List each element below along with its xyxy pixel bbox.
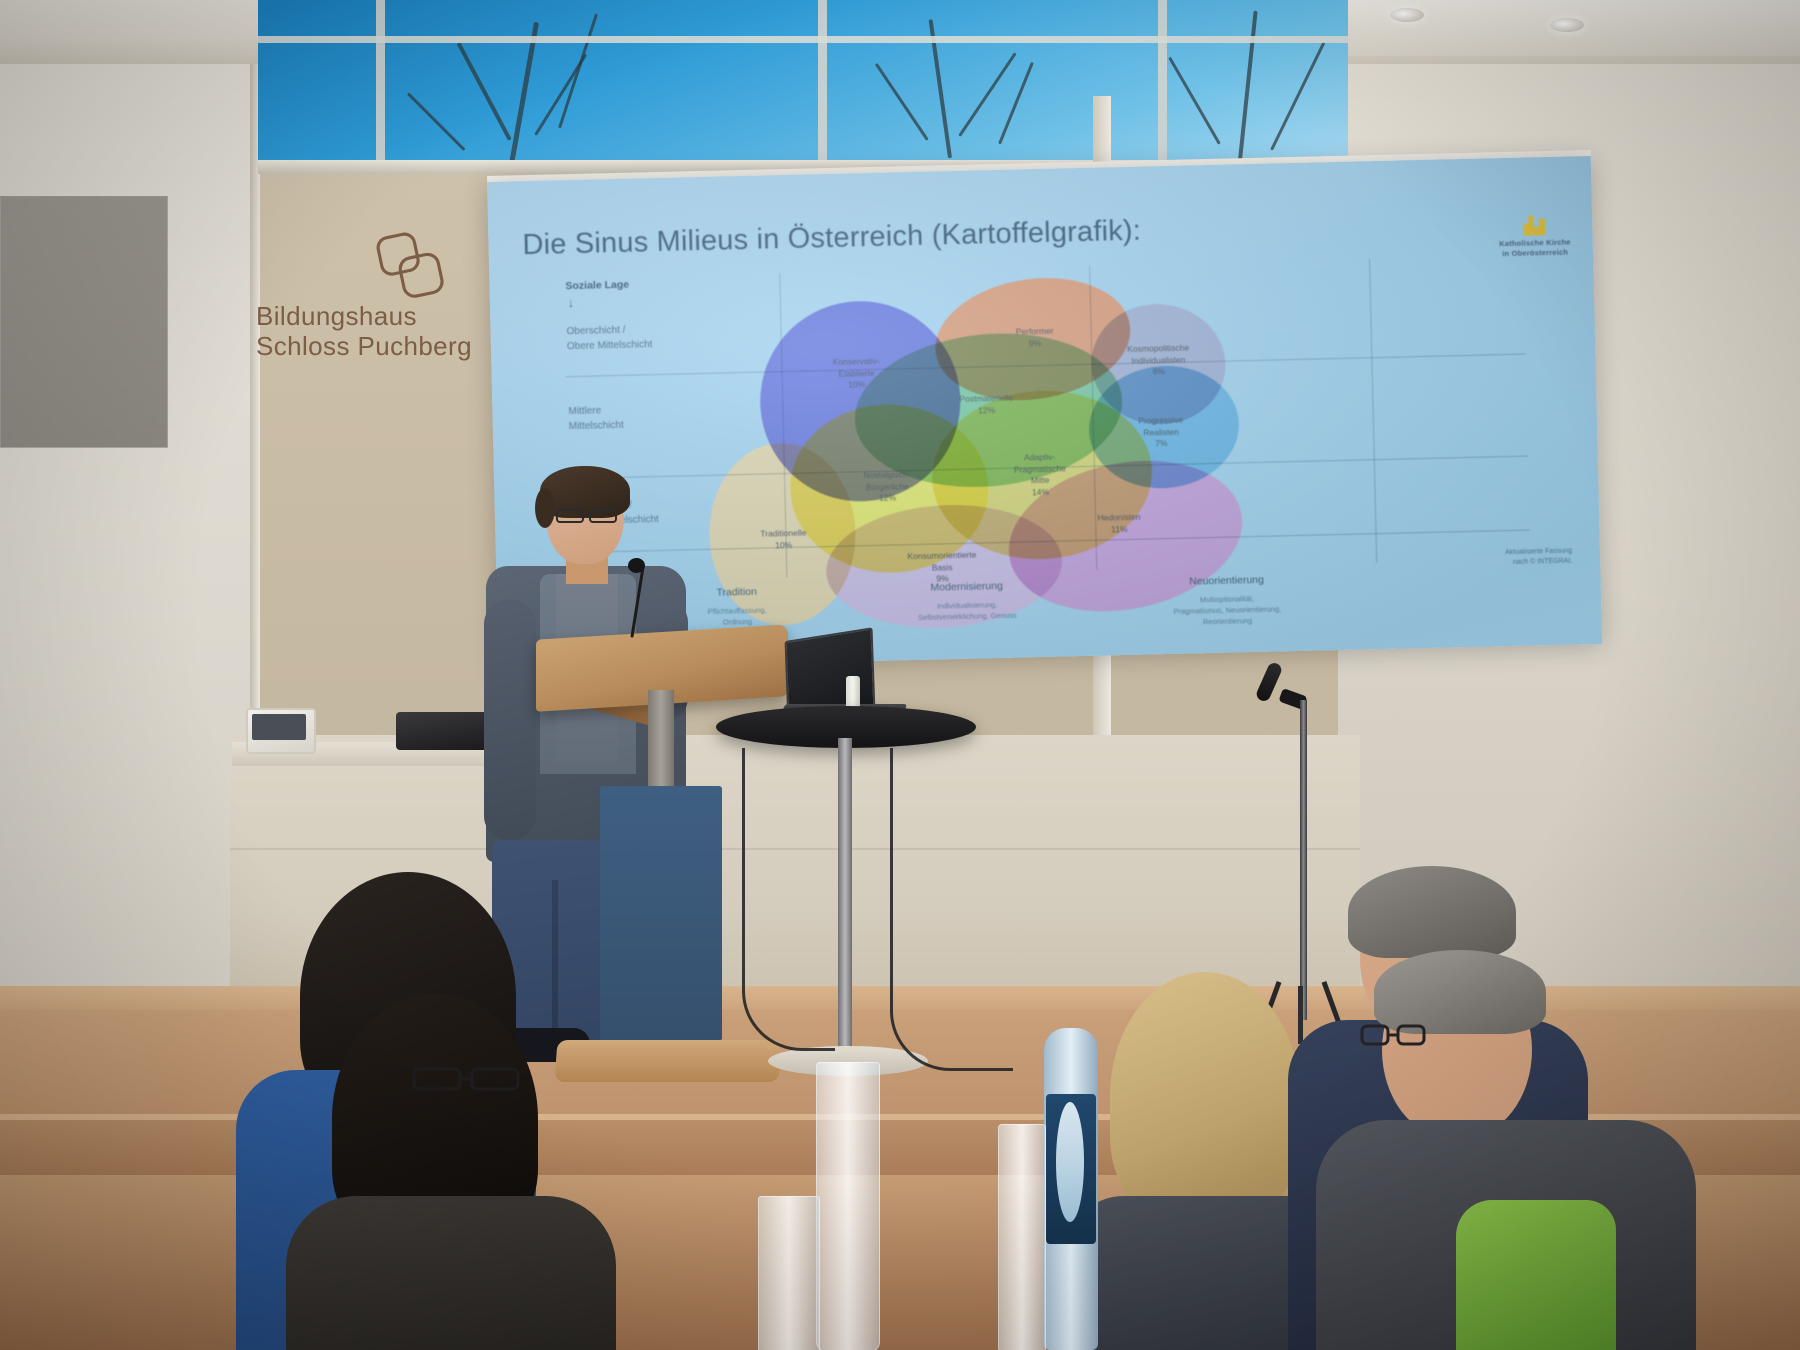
- microphone-stand-pole: [1300, 700, 1307, 1020]
- side-table-stem: [838, 738, 852, 1060]
- control-tablet-screen[interactable]: [252, 714, 306, 740]
- church-logo-mark-icon: [1523, 215, 1545, 236]
- speaker-glasses-icon: [556, 508, 618, 524]
- speaker-hair-side: [535, 488, 555, 528]
- foreground-drinking-glass: [758, 1196, 820, 1350]
- audience-member-5-scarf: [1456, 1200, 1616, 1350]
- slide-credit: Aktualisierte Fassung nach © INTEGRAL: [1505, 547, 1572, 568]
- x-axis-sub-modernisierung: Individualisierung, Selbstverwirklichung…: [847, 598, 1087, 625]
- window-transom: [258, 36, 1348, 43]
- slide-title: Die Sinus Milieus in Österreich (Kartoff…: [522, 215, 1141, 263]
- window-mullion: [376, 0, 385, 168]
- audience-member-5-glasses-icon: [1360, 1024, 1426, 1048]
- y-label-middle: Mittlere Mittelschicht: [568, 404, 624, 434]
- y-axis-title: Soziale Lage: [565, 279, 629, 292]
- ceiling-downlight: [1390, 8, 1424, 22]
- power-cable: [890, 748, 1013, 1071]
- acoustic-panel-left: [0, 196, 168, 448]
- lectern-front-panel: [600, 786, 722, 1041]
- power-cable: [742, 748, 835, 1051]
- foreground-drinking-glass: [816, 1062, 880, 1350]
- y-label-upper: Oberschicht / Obere Mittelschicht: [566, 323, 652, 354]
- church-logo-line2: in Oberösterreich: [1499, 248, 1571, 260]
- venue-sign-line1: Bildungshaus: [256, 300, 417, 333]
- microphone-stand-leg: [1298, 986, 1303, 1044]
- projector-device: [396, 712, 488, 750]
- church-logo: Katholische Kirche in Oberösterreich: [1499, 214, 1572, 259]
- venue-logo-icon: [374, 232, 448, 302]
- audience-member-4-hair: [1110, 972, 1300, 1222]
- audience-member-2-body: [286, 1196, 616, 1350]
- window-mullion: [1158, 0, 1167, 168]
- wall-panel-left: [0, 0, 258, 1120]
- venue-sign-line2: Schloss Puchberg: [256, 330, 472, 363]
- audience-member-2-glasses-icon: [412, 1066, 522, 1092]
- audience-member-5-hair: [1374, 950, 1546, 1034]
- lectern-microphone-head-icon: [628, 558, 645, 573]
- presentation-room-photo: Bildungshaus Schloss Puchberg Die Sinus …: [0, 0, 1800, 1350]
- foreground-drinking-glass: [998, 1124, 1046, 1350]
- speaker-left-arm: [484, 600, 536, 840]
- window-mullion: [818, 0, 827, 168]
- foreground-bottle-leaf-graphic: [1056, 1102, 1084, 1222]
- vline-neuorientierung: [1369, 259, 1377, 563]
- x-axis-sub-neuorientierung: Multioptionalität, Pragmatismus, Neuorie…: [1107, 592, 1348, 630]
- ceiling-downlight: [1550, 18, 1584, 32]
- audience-member-3-hair: [1348, 866, 1516, 958]
- lectern-base: [555, 1040, 782, 1082]
- clerestory-window: [258, 0, 1348, 168]
- y-axis-arrow-icon: ↓: [568, 296, 574, 310]
